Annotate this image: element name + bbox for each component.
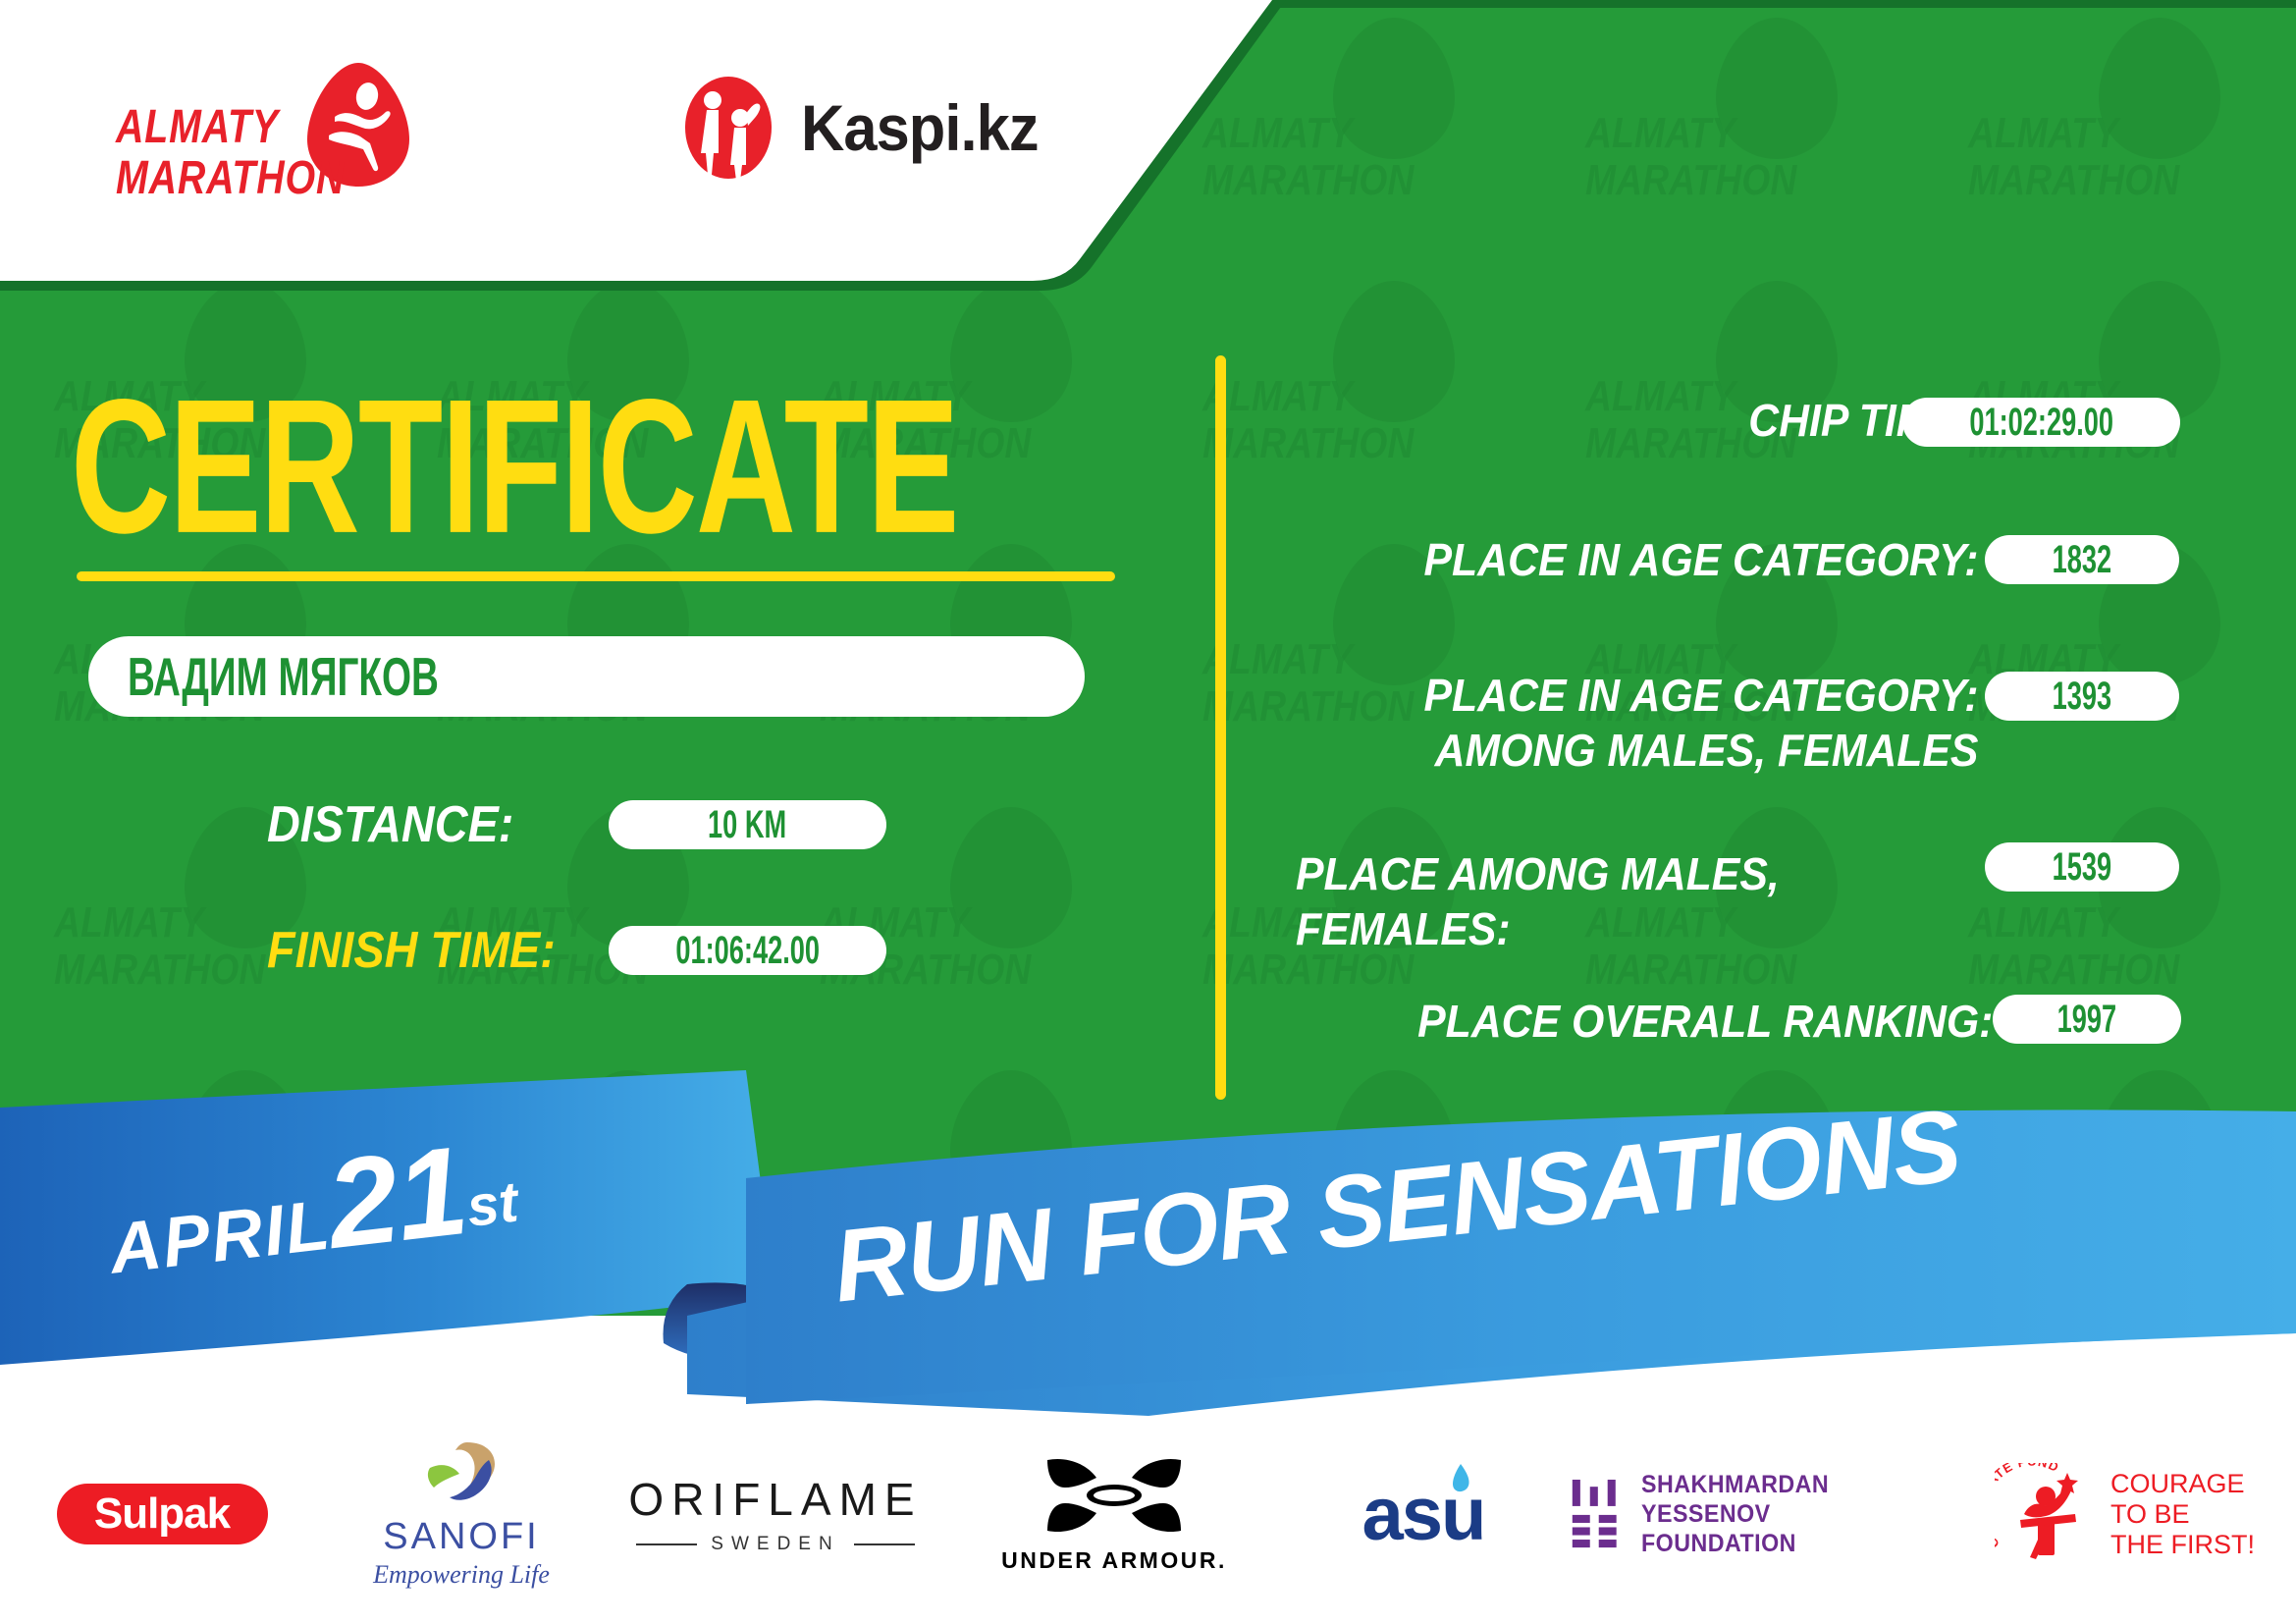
almaty-marathon-logo: ALMATY MARATHON xyxy=(116,57,450,204)
oriflame-logo: ORIFLAME SWEDEN xyxy=(628,1473,922,1555)
stat-row-place-gender: PLACE AMONG MALES, FEMALES: xyxy=(1296,846,1816,974)
column-divider xyxy=(1215,355,1226,1100)
participant-name-field: ВАДИМ МЯГКОВ xyxy=(88,636,1085,717)
overall-rank-value-pill: 1997 xyxy=(1993,995,2181,1044)
oriflame-country: SWEDEN xyxy=(711,1534,839,1555)
stat-row-overall: PLACE OVERALL RANKING: xyxy=(1266,994,1993,1056)
finish-time-value-pill: 01:06:42.00 xyxy=(609,926,886,975)
place-age-label: PLACE IN AGE CATEGORY: xyxy=(1382,532,1978,587)
sponsor-sanofi: SANOFI Empowering Life xyxy=(324,1404,599,1624)
divider-line-left xyxy=(636,1543,697,1545)
sponsor-sulpak: Sulpak xyxy=(0,1404,324,1624)
sanofi-wordmark: SANOFI xyxy=(373,1516,550,1558)
sponsor-asu: asu xyxy=(1276,1404,1571,1624)
distance-value: 10 KM xyxy=(708,802,786,847)
sulpak-logo: Sulpak xyxy=(57,1484,268,1544)
asu-wordmark: asu xyxy=(1362,1472,1485,1557)
chip-time-value-pill: 01:02:29.00 xyxy=(1902,398,2180,447)
courage-runner-icon: CORPORATE FUND xyxy=(1995,1463,2101,1565)
place-gender-label: PLACE AMONG MALES, FEMALES: xyxy=(1296,846,1816,956)
stat-row-distance: DISTANCE: 10 KM xyxy=(267,795,886,854)
sponsor-yessenov: SHAKHMARDAN YESSENOV FOUNDATION xyxy=(1571,1404,1953,1624)
kaspi-logo: Kaspi.kz xyxy=(677,69,1090,187)
place-gender-value-pill: 1539 xyxy=(1985,842,2179,892)
yessenov-logo: SHAKHMARDAN YESSENOV FOUNDATION xyxy=(1571,1470,1953,1558)
page-title: CERTIFICATE xyxy=(71,371,958,563)
logo-line-2: MARATHON xyxy=(116,152,345,204)
overall-rank-value: 1997 xyxy=(2057,997,2117,1042)
place-age-value-pill: 1832 xyxy=(1985,535,2179,584)
divider-line-right xyxy=(854,1543,915,1545)
finish-time-value: 01:06:42.00 xyxy=(675,928,820,973)
under-armour-logo: UNDER ARMOUR. xyxy=(1001,1454,1227,1574)
kaspi-wordmark: Kaspi.kz xyxy=(801,90,1039,165)
courage-wordmark: COURAGE TO BE THE FIRST! xyxy=(2110,1469,2255,1560)
place-age-gender-value: 1393 xyxy=(2053,674,2112,719)
place-age-value: 1832 xyxy=(2053,537,2112,582)
event-day: 21 xyxy=(320,1120,473,1275)
event-month: APRIL xyxy=(106,1186,336,1289)
stat-row-place-age: PLACE IN AGE CATEGORY: xyxy=(1266,532,1978,595)
oriflame-subline: SWEDEN xyxy=(628,1534,922,1555)
almaty-marathon-wordmark: ALMATY MARATHON xyxy=(116,102,345,204)
sanofi-logo: SANOFI Empowering Life xyxy=(373,1438,550,1590)
place-gender-value: 1539 xyxy=(2053,844,2112,890)
title-underline xyxy=(77,571,1115,581)
distance-label: DISTANCE: xyxy=(267,795,559,854)
stat-row-chip-time: CHIP TIME: xyxy=(1306,393,1973,456)
under-armour-mark-icon xyxy=(1036,1454,1193,1539)
stat-row-place-age-gender: PLACE IN AGE CATEGORY: AMONG MALES, FEMA… xyxy=(1266,668,1978,795)
place-age-gender-value-pill: 1393 xyxy=(1985,672,2179,721)
place-age-gender-label: PLACE IN AGE CATEGORY: AMONG MALES, FEMA… xyxy=(1382,668,1978,778)
distance-value-pill: 10 KM xyxy=(609,800,886,849)
under-armour-wordmark: UNDER ARMOUR. xyxy=(1001,1547,1227,1574)
asu-logo: asu xyxy=(1362,1472,1485,1557)
yessenov-wordmark: SHAKHMARDAN YESSENOV FOUNDATION xyxy=(1641,1470,1931,1558)
overall-rank-label: PLACE OVERALL RANKING: xyxy=(1374,994,1993,1049)
oriflame-wordmark: ORIFLAME xyxy=(628,1473,922,1526)
kaspi-people-icon xyxy=(677,75,779,181)
sponsor-courage: CORPORATE FUND COURAGE TO BE THE FIRST! xyxy=(1953,1404,2296,1624)
yessenov-mark-icon xyxy=(1571,1472,1620,1556)
event-day-suffix: st xyxy=(463,1169,521,1238)
sanofi-mark-icon xyxy=(416,1438,507,1509)
certificate-canvas: ALMATY MARATHON ALMATY MARATHON xyxy=(0,0,2296,1624)
logo-line-1: ALMATY xyxy=(116,101,279,153)
finish-time-label: FINISH TIME: xyxy=(267,921,559,980)
sanofi-tagline: Empowering Life xyxy=(373,1560,550,1590)
chip-time-value: 01:02:29.00 xyxy=(1969,400,2113,445)
courage-logo: CORPORATE FUND COURAGE TO BE THE FIRST! xyxy=(1995,1463,2255,1565)
sponsor-under-armour: UNDER ARMOUR. xyxy=(952,1404,1276,1624)
sponsor-bar: Sulpak SANOFI Empowering Life ORIFLAME S… xyxy=(0,1404,2296,1624)
sponsor-oriflame: ORIFLAME SWEDEN xyxy=(599,1404,952,1624)
participant-name: ВАДИМ МЯГКОВ xyxy=(128,645,439,708)
stat-row-finish-time: FINISH TIME: 01:06:42.00 xyxy=(267,921,886,980)
